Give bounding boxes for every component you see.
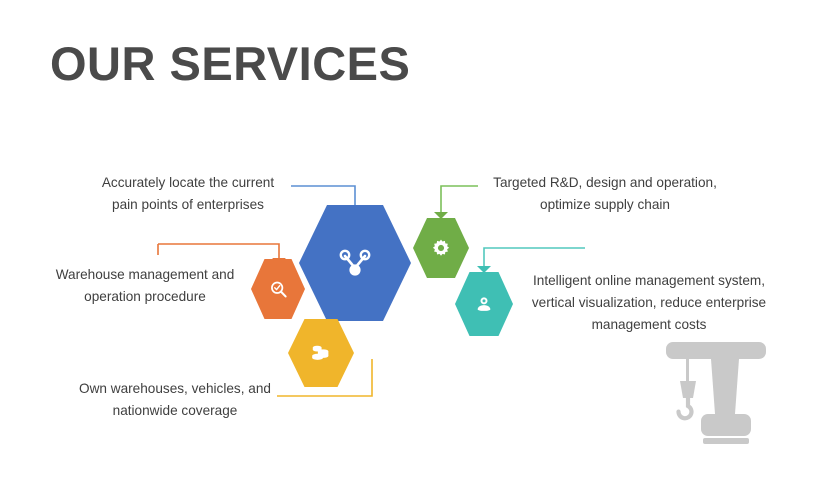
caption-search: Warehouse management and operation proce… <box>42 264 248 308</box>
caption-user: Intelligent online management system, ve… <box>520 270 778 336</box>
caption-gear: Targeted R&D, design and operation, opti… <box>480 172 730 216</box>
caption-coins: Own warehouses, vehicles, and nationwide… <box>72 378 278 422</box>
caption-network: Accurately locate the current pain point… <box>88 172 288 216</box>
search-check-icon <box>269 280 288 299</box>
user-person-icon <box>474 294 494 314</box>
connector-gear <box>434 186 478 219</box>
crane-hook-icon <box>662 340 770 457</box>
gear-icon <box>432 239 450 257</box>
network-share-icon <box>338 248 372 278</box>
coins-stack-icon <box>310 342 332 364</box>
slide-canvas: OUR SERVICES <box>0 0 830 500</box>
